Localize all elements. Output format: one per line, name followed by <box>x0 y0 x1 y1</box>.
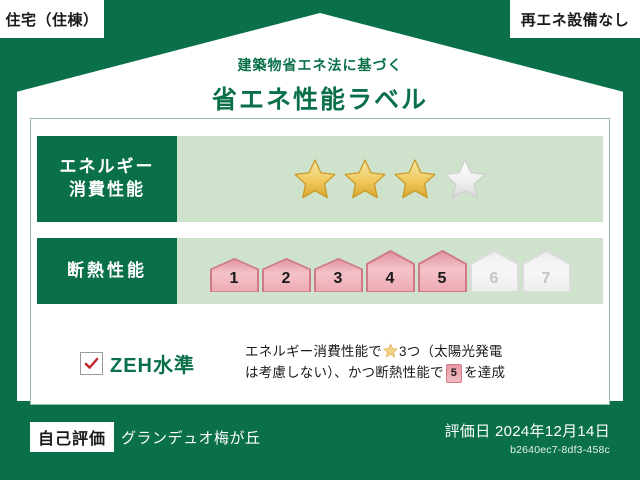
self-assessment-badge: 自己評価 <box>30 422 114 452</box>
star-filled-icon <box>292 157 338 201</box>
zeh-desc-part3: を達成 <box>464 365 505 380</box>
grade-number: 3 <box>334 270 343 292</box>
star-rating <box>177 136 603 222</box>
evaluation-date: 評価日 2024年12月14日 <box>445 420 610 441</box>
zeh-desc-part1: エネルギー消費性能で <box>245 344 382 359</box>
insulation-grade-7: 7 <box>522 250 571 292</box>
row-energy-label: エネルギー 消費性能 <box>37 136 177 222</box>
grade-number: 7 <box>542 270 551 292</box>
row-energy-label-line1: エネルギー <box>60 156 155 179</box>
insulation-grade-5: 5 <box>418 250 467 292</box>
grade-strip: 1234567 <box>210 250 571 292</box>
row-insulation-performance: 断熱性能 1234567 <box>37 238 603 304</box>
star-filled-icon <box>342 157 388 201</box>
footer-right: 評価日 2024年12月14日 b2640ec7-8df3-458c <box>445 420 610 456</box>
insulation-grade-scale: 1234567 <box>177 238 603 304</box>
check-icon <box>80 352 103 375</box>
zeh-desc-stars: 3つ（太陽光発電 <box>399 344 503 359</box>
row-insulation-label-line1: 断熱性能 <box>67 260 147 283</box>
category-tab-renewable: 再エネ設備なし <box>510 0 640 38</box>
insulation-grade-1: 1 <box>210 258 259 292</box>
category-tab-housing: 住宅（住棟） <box>0 0 104 38</box>
star-empty-icon <box>442 157 488 201</box>
insulation-grade-6: 6 <box>470 250 519 292</box>
grade-number: 6 <box>490 270 499 292</box>
energy-performance-label: 住宅（住棟） 再エネ設備なし 建築物省エネ法に基づく 省エネ性能ラベル エネルギ… <box>0 0 640 480</box>
zeh-row: ZEH水準 エネルギー消費性能で 3つ（太陽光発電 は考慮しない）、かつ断熱性能… <box>30 332 610 394</box>
zeh-status: ZEH水準 <box>30 349 245 378</box>
insulation-grade-3: 3 <box>314 258 363 292</box>
row-energy-performance: エネルギー 消費性能 <box>37 136 603 222</box>
zeh-description: エネルギー消費性能で 3つ（太陽光発電 は考慮しない）、かつ断熱性能で5を達成 <box>245 342 610 384</box>
grade-number: 1 <box>230 270 239 292</box>
inline-grade-badge: 5 <box>446 364 462 383</box>
building-name: グランデュオ梅が丘 <box>121 427 261 448</box>
grade-number: 5 <box>438 270 447 292</box>
insulation-grade-2: 2 <box>262 258 311 292</box>
insulation-grade-4: 4 <box>366 250 415 292</box>
title-block: 建築物省エネ法に基づく 省エネ性能ラベル <box>0 55 640 116</box>
zeh-desc-part2: は考慮しない）、かつ断熱性能で <box>245 365 444 380</box>
star-filled-icon <box>392 157 438 201</box>
row-energy-label-line2: 消費性能 <box>69 179 145 202</box>
page-title: 省エネ性能ラベル <box>0 80 640 116</box>
label-subtitle: 建築物省エネ法に基づく <box>0 55 640 75</box>
zeh-label: ZEH水準 <box>110 349 195 378</box>
document-id: b2640ec7-8df3-458c <box>445 444 610 456</box>
footer-left: 自己評価 グランデュオ梅が丘 <box>30 422 261 452</box>
row-insulation-label: 断熱性能 <box>37 238 177 304</box>
grade-number: 2 <box>282 270 291 292</box>
grade-number: 4 <box>386 270 395 292</box>
star-icon <box>383 343 398 358</box>
